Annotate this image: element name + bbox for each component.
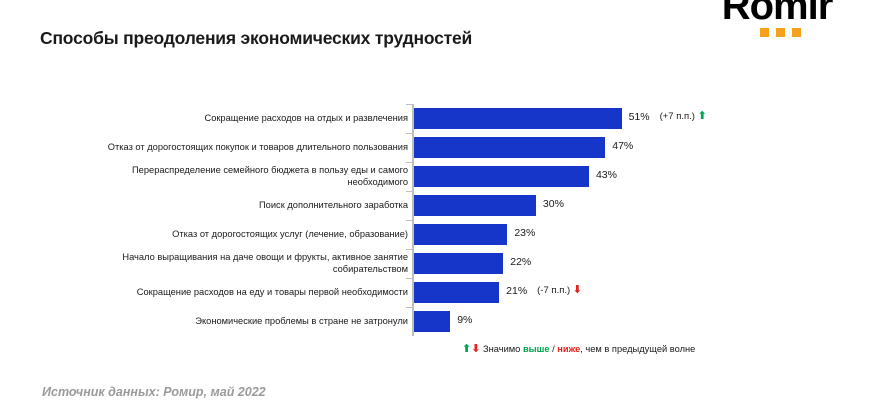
axis-tick — [406, 191, 412, 192]
chart-bar — [414, 195, 536, 216]
legend-suffix: , чем в предыдущей волне — [580, 344, 695, 354]
bar-value-label: 22% — [510, 256, 531, 268]
chart-bar-row: Сокращение расходов на отдых и развлечен… — [0, 104, 870, 133]
chart-bar-row: Поиск дополнительного заработка30% — [0, 191, 870, 220]
bar-value-label: 47% — [612, 140, 633, 152]
bar-value-label: 21% — [506, 285, 527, 297]
chart-bar-row: Сокращение расходов на еду и товары перв… — [0, 278, 870, 307]
axis-tick — [406, 307, 412, 308]
axis-tick — [406, 249, 412, 250]
axis-tick — [406, 104, 412, 105]
legend-up-arrow-icon: ⬆ — [462, 343, 471, 355]
chart-bar-row: Начало выращивания на даче овощи и фрукт… — [0, 249, 870, 278]
axis-tick — [406, 133, 412, 134]
bar-value-label: 23% — [514, 227, 535, 239]
chart-bar — [414, 253, 504, 274]
category-label: Перераспределение семейного бюджета в по… — [78, 165, 408, 188]
logo-dot — [792, 28, 801, 37]
delta-annotation: (+7 п.п.) ⬆ — [660, 111, 707, 122]
brand-logo: Romir — [702, 0, 852, 37]
bar-value-label: 9% — [457, 314, 472, 326]
bar-value-label: 51% — [629, 111, 650, 123]
delta-annotation: (-7 п.п.) ⬇ — [537, 285, 582, 296]
axis-tick — [406, 278, 412, 279]
delta-text: (+7 п.п.) — [660, 111, 695, 122]
category-label: Начало выращивания на даче овощи и фрукт… — [78, 252, 408, 275]
chart-bar — [414, 166, 589, 187]
chart-bar — [414, 282, 500, 303]
logo-wordmark: Romir — [702, 0, 852, 26]
legend-lower-word: ниже — [557, 344, 580, 354]
chart-bar-row: Экономические проблемы в стране не затро… — [0, 307, 870, 336]
chart-bar — [414, 311, 451, 332]
bar-value-label: 30% — [543, 198, 564, 210]
delta-text: (-7 п.п.) — [537, 285, 570, 296]
axis-tick — [406, 162, 412, 163]
source-note: Источник данных: Ромир, май 2022 — [42, 385, 266, 399]
legend-prefix: Значимо — [483, 344, 523, 354]
logo-dot — [776, 28, 785, 37]
chart-bar-row: Отказ от дорогостоящих покупок и товаров… — [0, 133, 870, 162]
delta-up-arrow-icon: ⬆ — [698, 110, 707, 122]
chart-bar — [414, 137, 606, 158]
category-label: Сокращение расходов на отдых и развлечен… — [78, 113, 408, 125]
legend-higher-word: выше — [523, 344, 550, 354]
category-label: Сокращение расходов на еду и товары перв… — [78, 287, 408, 299]
category-label: Поиск дополнительного заработка — [78, 200, 408, 212]
bar-value-label: 43% — [596, 169, 617, 181]
chart-legend: ⬆⬇ Значимо выше / ниже, чем в предыдущей… — [462, 344, 695, 355]
page-title: Способы преодоления экономических трудно… — [40, 28, 472, 49]
bar-chart: Сокращение расходов на отдых и развлечен… — [0, 104, 870, 344]
category-label: Отказ от дорогостоящих покупок и товаров… — [78, 142, 408, 154]
legend-down-arrow-icon: ⬇ — [471, 343, 480, 355]
logo-dot — [760, 28, 769, 37]
category-label: Экономические проблемы в стране не затро… — [78, 316, 408, 328]
chart-bar — [414, 224, 508, 245]
axis-tick — [406, 220, 412, 221]
delta-down-arrow-icon: ⬇ — [573, 284, 582, 296]
chart-bar-row: Отказ от дорогостоящих услуг (лечение, о… — [0, 220, 870, 249]
category-label: Отказ от дорогостоящих услуг (лечение, о… — [78, 229, 408, 241]
chart-bar-row: Перераспределение семейного бюджета в по… — [0, 162, 870, 191]
chart-bar — [414, 108, 622, 129]
logo-dots — [702, 28, 852, 37]
